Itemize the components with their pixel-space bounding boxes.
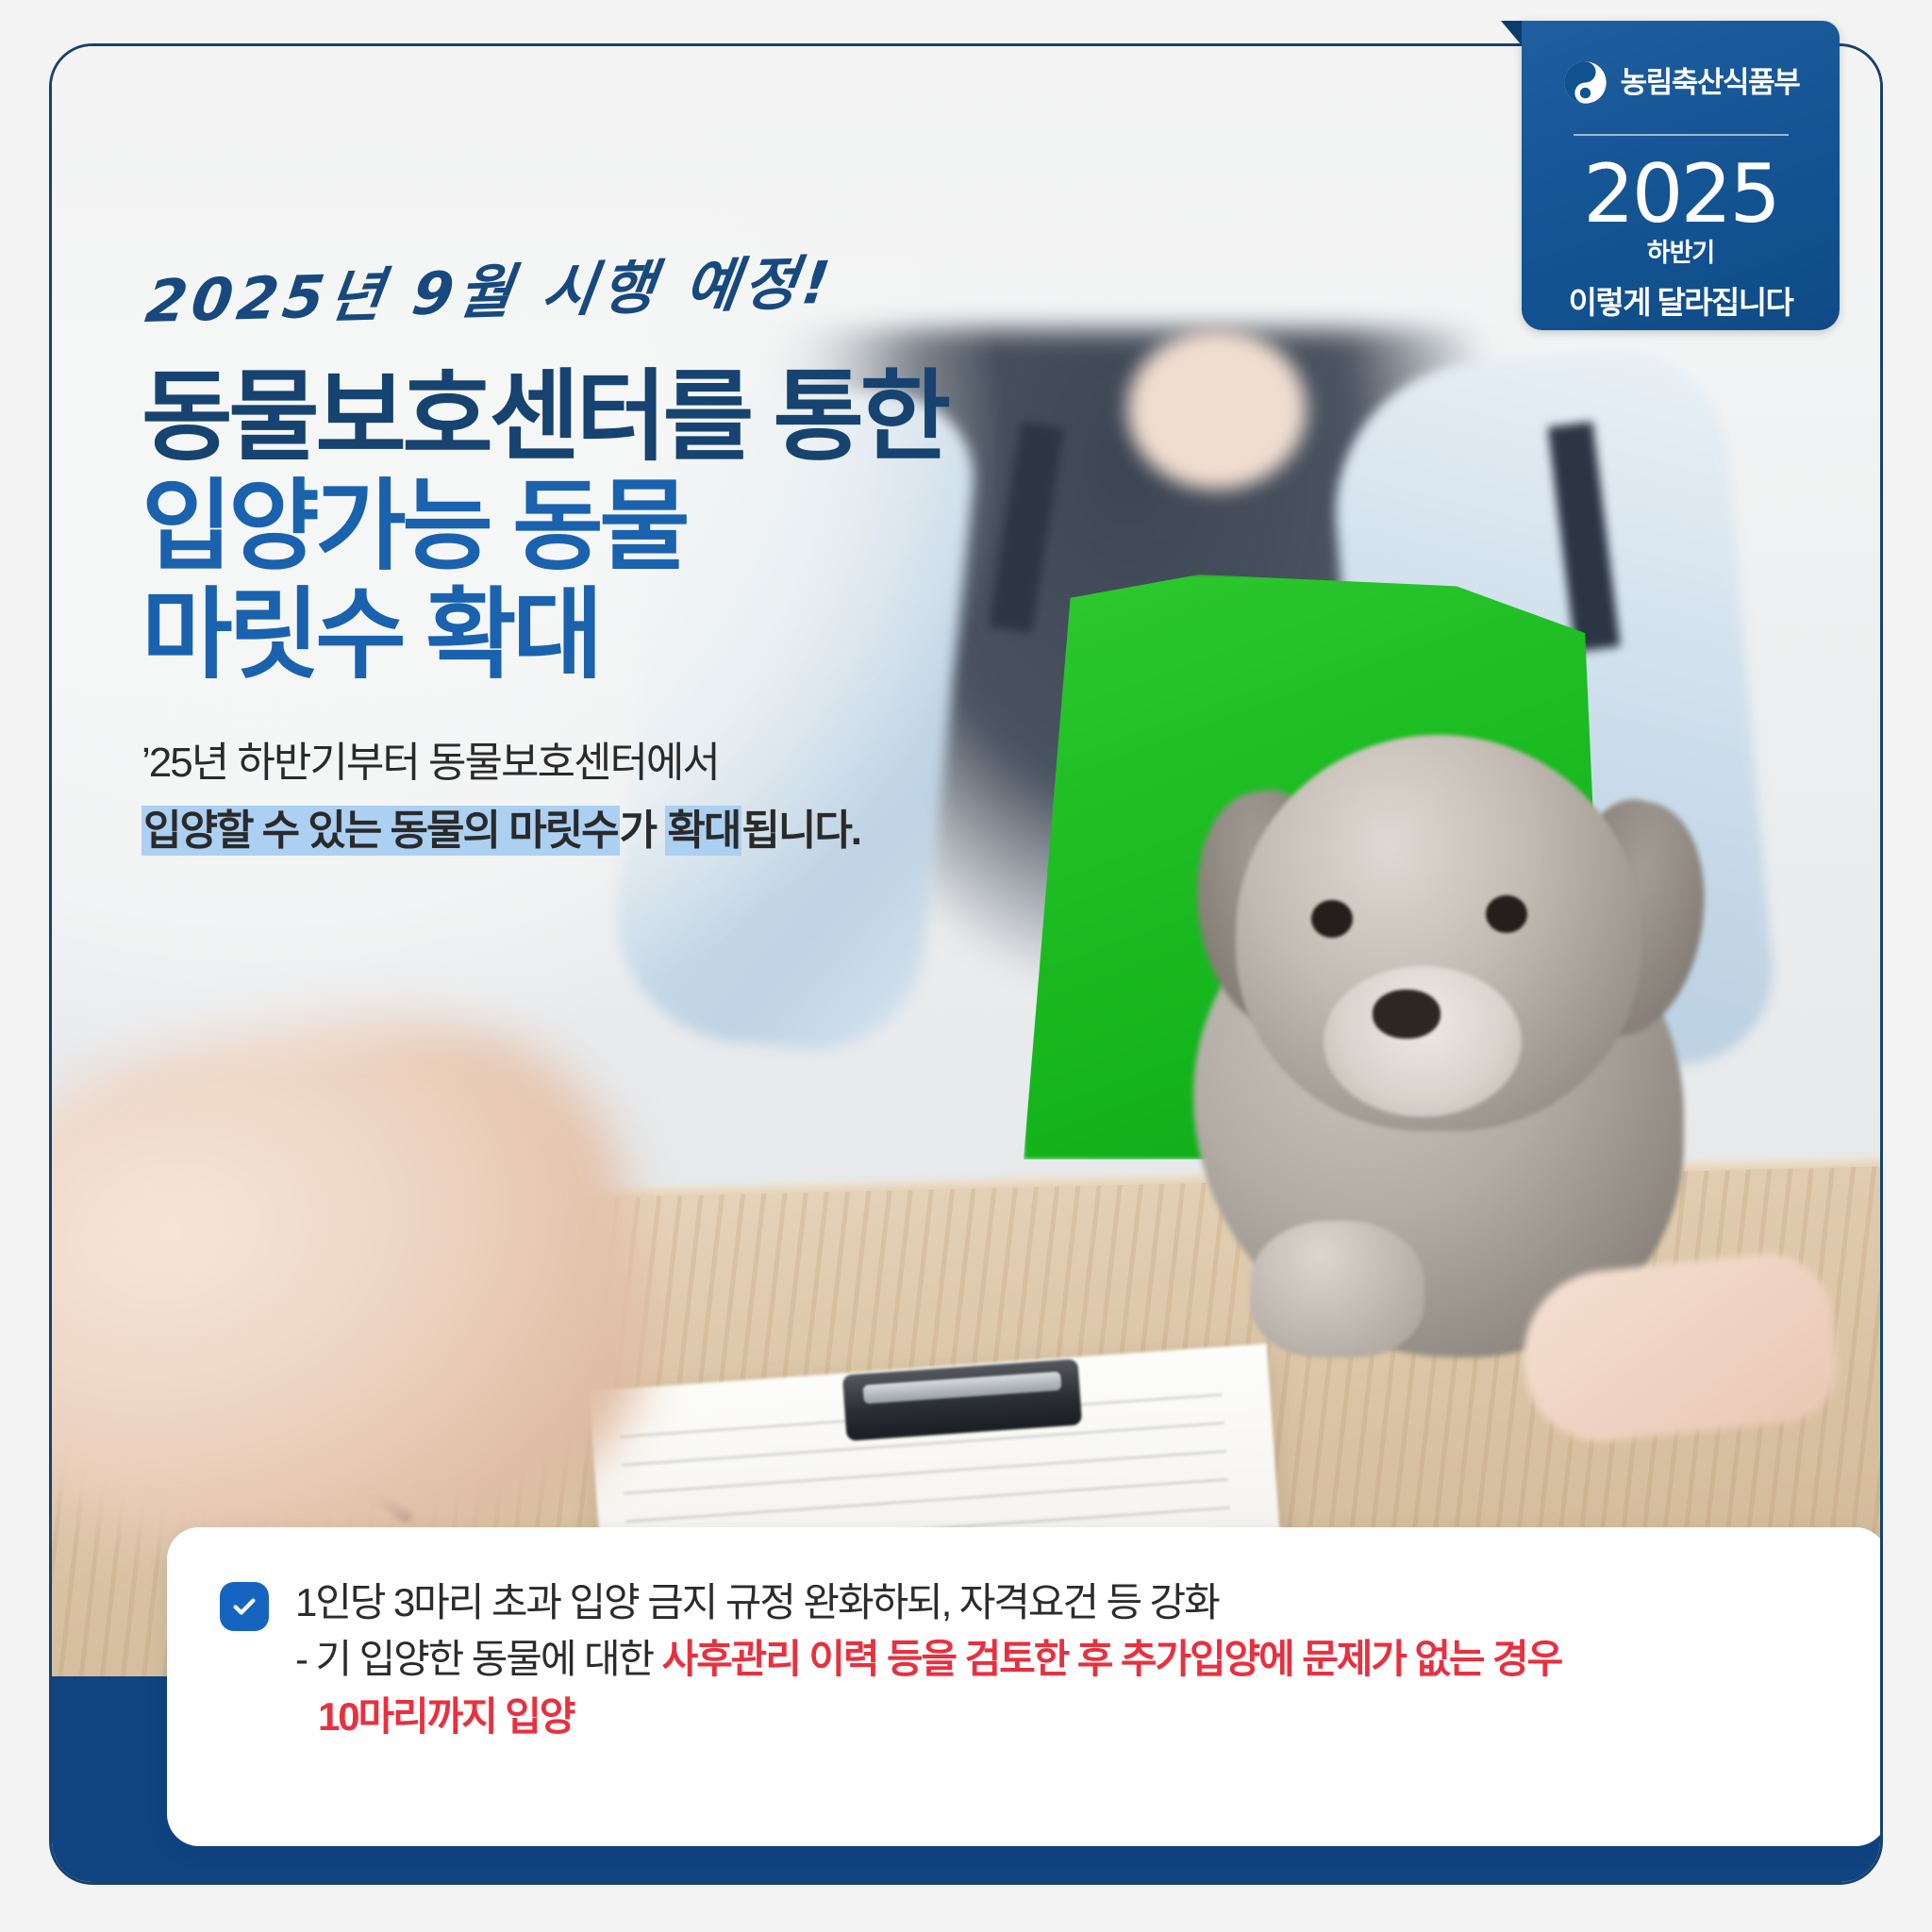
subtitle-plain-1: 가 (620, 808, 666, 854)
photo-dog-nose (1373, 990, 1441, 1039)
page-title-line-3: 마릿수 확대 (142, 581, 947, 691)
badge-half-year: 하반기 (1522, 232, 1840, 269)
photo-dog-eye-left (1311, 900, 1353, 938)
ribbon-fold-icon (1501, 21, 1522, 45)
page-title: 동물보호센터를 통한 입양가능 동물 마릿수 확대 (142, 363, 947, 691)
photo-dog-muzzle (1324, 966, 1522, 1117)
subtitle-line-2: 입양할 수 있는 동물의 마릿수가 확대됩니다. (142, 800, 947, 863)
photo-dog-eye-right (1486, 895, 1527, 933)
info-line-2-emphasis: 사후관리 이력 등을 검토한 후 추가입양에 문제가 없는 경우 (662, 1637, 1562, 1681)
info-line-2-plain: - 기 입양한 동물에 대한 (295, 1637, 662, 1681)
ministry-badge: 농림축산식품부 2025 하반기 이렇게 달라집니다 (1522, 21, 1840, 330)
badge-year: 2025 (1522, 160, 1840, 230)
info-bullet-row: 1인당 3마리 초과 입양 금지 규정 완화하되, 자격요건 등 강화 - 기 … (220, 1576, 1842, 1743)
subtitle-plain-2: 됩니다. (741, 808, 860, 854)
subtitle-highlight-1: 입양할 수 있는 동물의 마릿수 (142, 806, 620, 856)
info-line-3: 10마리까지 입양 (295, 1690, 1842, 1743)
info-line-1: 1인당 3마리 초과 입양 금지 규정 완화하되, 자격요건 등 강화 (295, 1576, 1842, 1629)
korea-government-emblem-icon (1562, 59, 1608, 106)
info-bullet-text: 1인당 3마리 초과 입양 금지 규정 완화하되, 자격요건 등 강화 - 기 … (295, 1576, 1842, 1743)
ministry-name: 농림축산식품부 (1621, 68, 1800, 97)
page-title-line-2: 입양가능 동물 (142, 473, 947, 582)
subtitle-line-1: ’25년 하반기부터 동물보호센터에서 (142, 740, 719, 786)
subtitle-highlight-2: 확대 (665, 806, 741, 856)
page-title-line-1: 동물보호센터를 통한 (142, 363, 947, 473)
badge-tagline: 이렇게 달라집니다 (1522, 277, 1840, 323)
headline-block: 2025년 9월 시행 예정! 동물보호센터를 통한 입양가능 동물 마릿수 확… (142, 254, 947, 863)
checkmark-icon (220, 1582, 269, 1631)
badge-divider (1574, 134, 1789, 136)
ministry-logo-row: 농림축산식품부 (1522, 21, 1840, 106)
photo-dog-paw (1250, 1221, 1424, 1357)
info-card: 1인당 3마리 초과 입양 금지 규정 완화하되, 자격요건 등 강화 - 기 … (167, 1527, 1883, 1846)
subtitle: ’25년 하반기부터 동물보호센터에서 입양할 수 있는 동물의 마릿수가 확대… (142, 732, 947, 864)
info-line-2: - 기 입양한 동물에 대한 사후관리 이력 등을 검토한 후 추가입양에 문제… (295, 1633, 1842, 1686)
poster-root: 2025년 9월 시행 예정! 동물보호센터를 통한 입양가능 동물 마릿수 확… (0, 0, 1932, 1932)
